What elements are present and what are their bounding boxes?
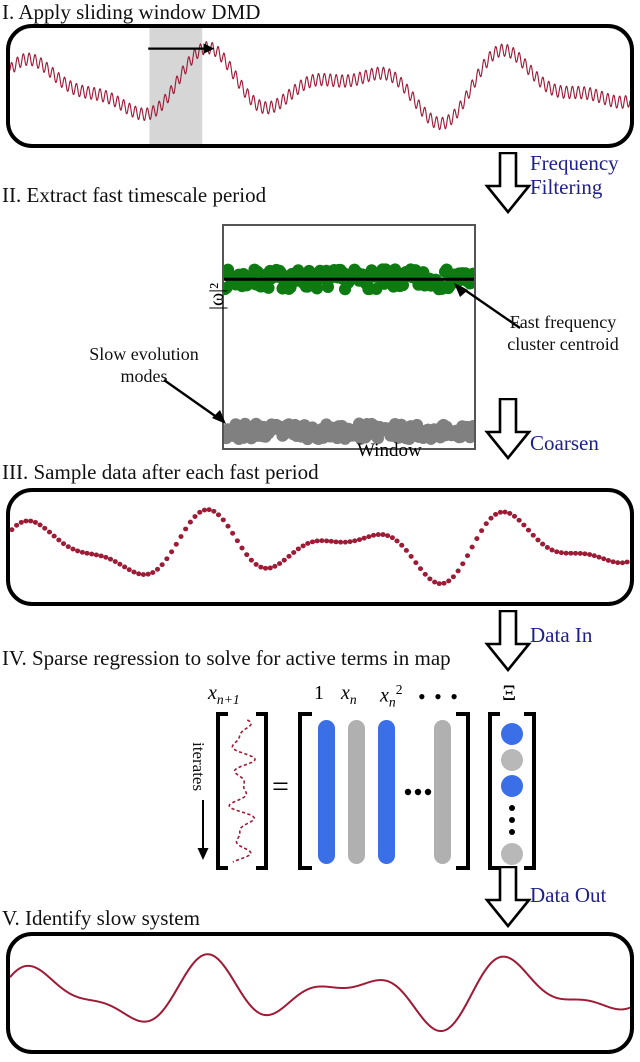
flow-label-frequency-filtering-line1: Frequency [530,152,619,174]
library-body-ellipsis [405,789,431,795]
library-col-3-superscript: 2 [396,682,403,697]
bracket-left-icon [218,714,228,868]
library-column-bar-2 [348,720,365,864]
bracket-right-icon [256,714,266,868]
library-header-ellipsis: • • • [418,684,460,710]
panel-i-plot [6,24,634,148]
flow-label-coarsen: Coarsen [530,432,599,454]
library-column-bar-1 [318,720,335,864]
lhs-vector-signal-trace [229,720,255,862]
flow-arrow-data-in [484,610,532,672]
panel-ii-x-axis-label: Window [357,440,422,462]
lhs-vector-bracket-group [214,710,270,872]
flow-arrow-frequency-filtering [484,152,532,214]
xi-entry-vdots [509,805,515,835]
sliding-window-band [150,28,203,144]
flow-arrow-coarsen [484,398,532,460]
bracket-left-icon [490,714,500,868]
panel-v-heading: V. Identify slow system [2,908,200,929]
iterates-label: iterates [188,742,208,791]
lhs-vector-symbol: x [208,682,217,704]
raw-signal-trace [10,42,630,130]
slow-modes-annotation-line1: Slow evolution [64,344,224,365]
xi-vector-label: Ξ [502,680,516,706]
equals-sign: = [272,770,289,804]
panel-ii-heading: II. Extract fast timescale period [2,185,266,206]
panel-i-heading: I. Apply sliding window DMD [2,2,260,23]
slow-evolution-mode-points [224,418,474,446]
library-matrix-group [296,710,472,872]
coarse-sample-points [10,507,630,586]
flow-label-data-in: Data In [530,624,592,646]
xi-entry-2 [501,749,523,771]
library-col-2-symbol: x [341,682,350,704]
lhs-vector-label: xn+1 [208,682,240,708]
xi-entry-last [501,843,523,865]
flow-arrow-data-out [484,866,532,928]
down-block-arrow-icon [484,610,532,672]
xi-entry-3 [501,775,523,797]
panel-ii-y-axis-label: |ω|² [206,283,229,310]
bracket-left-icon [300,714,312,868]
library-col-3-symbol: x [380,685,389,707]
fast-cluster-annotation-line1: Fast frequency [488,312,638,333]
xi-entry-1 [501,723,523,745]
lhs-vector-subscript: n+1 [217,692,240,707]
panel-iii-scatter-svg [10,492,630,602]
panel-v-plot [6,932,634,1054]
iterates-direction-arrow [196,800,210,862]
panel-iii-heading: III. Sample data after each fast period [2,462,319,483]
identified-slow-system-trace [10,954,630,1031]
down-block-arrow-icon [484,866,532,928]
bracket-right-icon [524,714,534,868]
flow-label-frequency-filtering-line2: Filtering [530,176,602,198]
panel-v-signal-svg [10,936,630,1050]
panel-iii-plot [6,488,634,606]
slow-modes-annotation-arrow [162,378,228,428]
figure-root: I. Apply sliding window DMD Frequency Fi… [0,0,640,1062]
panel-i-signal-svg [10,28,630,144]
library-col-3-subscript: n [389,695,396,710]
library-column-bar-last [434,720,451,864]
library-col-1-label: 1 [314,682,324,705]
down-block-arrow-icon [484,152,532,214]
library-column-bar-3 [378,720,395,864]
flow-label-data-out: Data Out [530,884,606,906]
library-col-2-label: xn [341,682,357,708]
panel-ii-axes [222,224,476,450]
bracket-right-icon [456,714,468,868]
panel-ii-scatter-svg [224,226,474,448]
down-block-arrow-icon [484,398,532,460]
xi-vector-group [486,710,538,872]
library-col-3-label: xn2 [380,682,402,711]
library-col-2-subscript: n [350,692,357,707]
panel-iv-heading: IV. Sparse regression to solve for activ… [2,648,451,669]
fast-cluster-annotation-line2: cluster centroid [488,334,638,355]
